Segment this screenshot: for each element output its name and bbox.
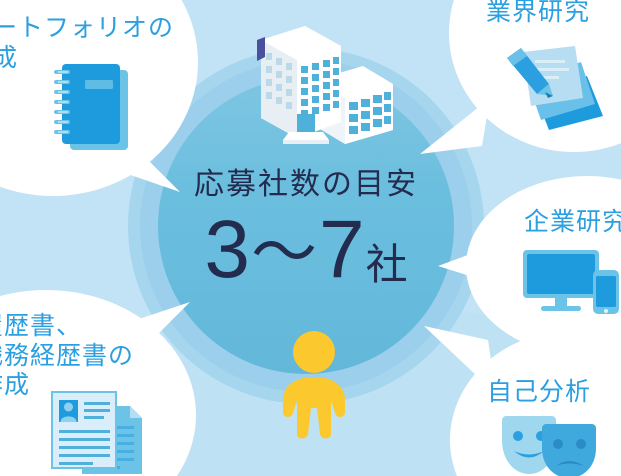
- center-subtitle: 応募社数の目安: [194, 170, 418, 200]
- monitor-smartphone-icon: [519, 248, 621, 316]
- center-number-high: 7: [319, 209, 364, 291]
- bubble-label-resume-line1: 履歴書、: [0, 312, 134, 342]
- bubble-label-company-line1: 企業研究: [524, 208, 621, 238]
- infographic-canvas: ポートフォリオの 作成 業界研究 企業研究 自己分析 履歴書、 職務経歴書の 作…: [0, 0, 621, 476]
- bubble-tail-company: [438, 238, 508, 292]
- spiral-notebook-icon: [50, 60, 134, 155]
- papers-pencil-icon: [505, 40, 609, 132]
- resume-documents-icon: [42, 386, 152, 476]
- bubble-label-resume-line2: 職務経歴書の: [0, 342, 134, 372]
- bubble-label-industry-line1: 業界研究: [486, 0, 590, 28]
- bubble-label-portfolio-line1: ポートフォリオの: [0, 14, 174, 44]
- center-tilde: 〜: [249, 219, 319, 291]
- bubble-label-self-analysis: 自己分析: [487, 378, 591, 408]
- bubble-label-industry-research: 業界研究: [486, 0, 590, 28]
- theater-masks-icon: [496, 416, 598, 476]
- person-figure-icon: [275, 330, 353, 442]
- center-number-low: 3: [204, 209, 249, 291]
- center-main-value: 3 〜 7 社: [204, 209, 407, 291]
- office-building-icon: [243, 22, 393, 147]
- center-unit: 社: [366, 244, 408, 291]
- bubble-label-company-research: 企業研究: [524, 208, 621, 238]
- bubble-tail-industry: [420, 96, 490, 162]
- bubble-label-self-analysis-line1: 自己分析: [487, 378, 591, 408]
- bubble-tail-self-analysis: [424, 320, 496, 396]
